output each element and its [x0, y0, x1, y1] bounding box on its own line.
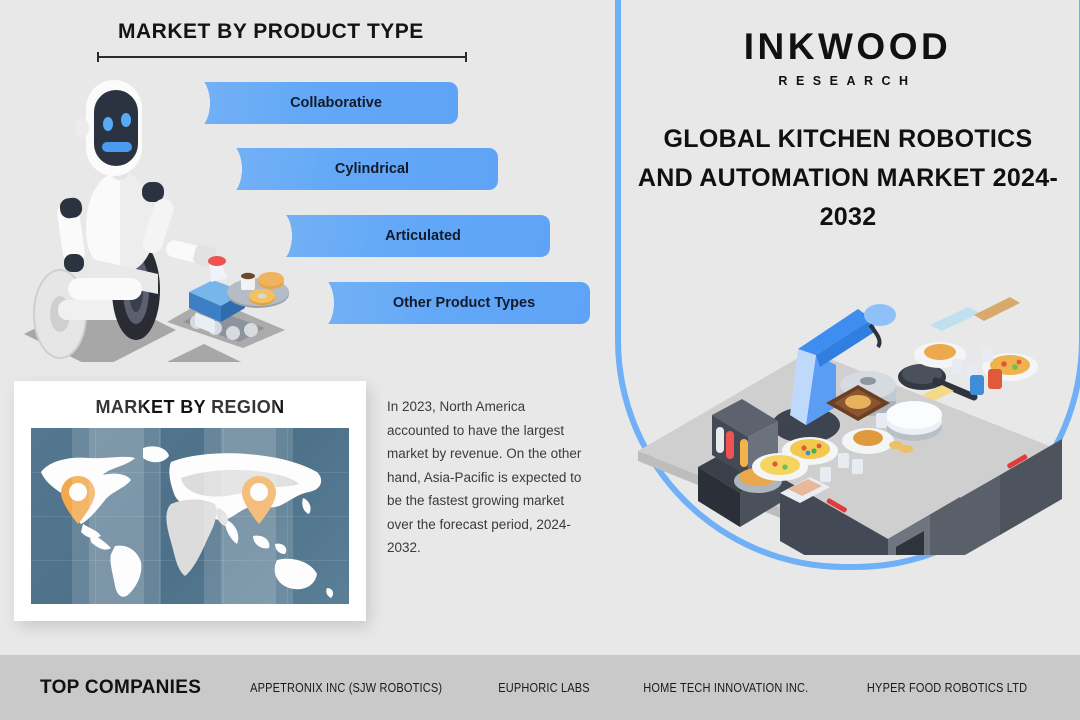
brand-lockup: INKWOOD RESEARCH	[615, 28, 1080, 88]
product-type-bar-collaborative[interactable]: Collaborative	[196, 82, 458, 124]
product-type-bar-articulated[interactable]: Articulated	[278, 215, 550, 257]
market-by-region-title: MARKET BY REGION	[14, 397, 366, 418]
company-name: EUPHORIC LABS	[498, 681, 590, 695]
company-name: HYPER FOOD ROBOTICS LTD	[867, 681, 1027, 695]
bar-label: Collaborative	[290, 95, 382, 111]
top-companies-bar: TOP COMPANIES APPETRONIX INC (SJW ROBOTI…	[0, 655, 1080, 720]
left-column: MARKET BY PRODUCT TYPE	[0, 0, 615, 655]
title-underline-rule	[97, 52, 467, 62]
bar-label: Other Product Types	[393, 295, 535, 311]
region-description: In 2023, North America accounted to have…	[387, 395, 587, 560]
market-by-region-card: MARKET BY REGION	[14, 381, 366, 621]
product-type-bar-cylindrical[interactable]: Cylindrical	[228, 148, 498, 190]
product-type-bar-other[interactable]: Other Product Types	[320, 282, 590, 324]
company-list: APPETRONIX INC (SJW ROBOTICS) EUPHORIC L…	[201, 681, 1080, 695]
asia-pacific-pin	[242, 476, 276, 524]
product-type-bar-list: Collaborative Cylindrical Articulated Ot…	[0, 82, 615, 332]
bar-label: Articulated	[385, 228, 461, 244]
rule-line	[97, 56, 467, 58]
world-map	[31, 428, 349, 604]
robotic-kitchen-illustration	[630, 255, 1070, 555]
brand-name: INKWOOD	[615, 28, 1080, 65]
top-companies-label: TOP COMPANIES	[40, 677, 201, 699]
infographic-canvas: MARKET BY PRODUCT TYPE	[0, 0, 1080, 720]
company-name: APPETRONIX INC (SJW ROBOTICS)	[250, 681, 442, 695]
market-by-product-type-title: MARKET BY PRODUCT TYPE	[118, 20, 424, 44]
right-panel: INKWOOD RESEARCH GLOBAL KITCHEN ROBOTICS…	[615, 0, 1080, 655]
bar-label: Cylindrical	[335, 161, 409, 177]
brand-subtitle: RESEARCH	[615, 74, 1080, 88]
rule-cap-right	[465, 52, 467, 62]
company-name: HOME TECH INNOVATION INC.	[643, 681, 808, 695]
report-headline: GLOBAL KITCHEN ROBOTICS AND AUTOMATION M…	[633, 120, 1063, 237]
